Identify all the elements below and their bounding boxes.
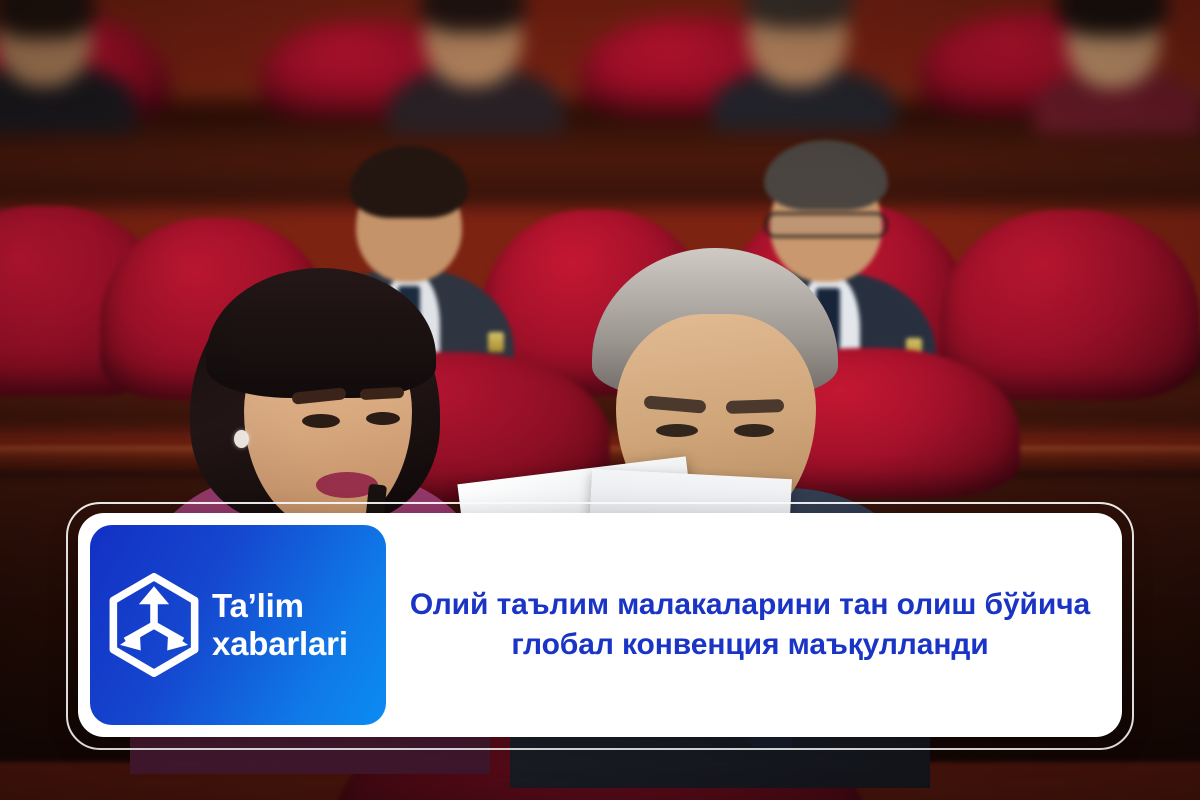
person-eyebrow	[360, 387, 405, 400]
eyeglasses-icon	[764, 212, 888, 238]
headline-area: Олий таълим малакаларини тан олиш бўйича…	[386, 585, 1122, 664]
news-card: Ta’lim xabarlari Олий таълим малакаларин…	[78, 513, 1122, 737]
person-eye	[302, 414, 340, 428]
cube-arrows-icon	[106, 573, 202, 677]
brand-name: Ta’lim xabarlari	[212, 587, 348, 664]
headline-line-2: глобал конвенция маъқулланди	[511, 628, 988, 661]
brand-name-line-2: xabarlari	[212, 625, 348, 663]
headline-text: Олий таълим малакаларини тан олиш бўйича…	[404, 585, 1096, 664]
person-eye	[366, 412, 400, 425]
brand-logo-block[interactable]: Ta’lim xabarlari	[90, 525, 386, 725]
news-card-graphic: Ta’lim xabarlari Олий таълим малакаларин…	[0, 0, 1200, 800]
person-earring	[234, 430, 249, 448]
brand-name-line-1: Ta’lim	[212, 587, 348, 625]
lapel-badge	[488, 332, 504, 352]
official-hair	[764, 140, 888, 210]
person-eyebrow	[726, 399, 784, 414]
headline-line-1: Олий таълим малакаларини тан олиш бўйича	[410, 588, 1090, 621]
official-hair	[350, 146, 468, 218]
person-eye	[656, 424, 698, 437]
person-eye	[734, 424, 774, 437]
chair	[940, 210, 1200, 400]
